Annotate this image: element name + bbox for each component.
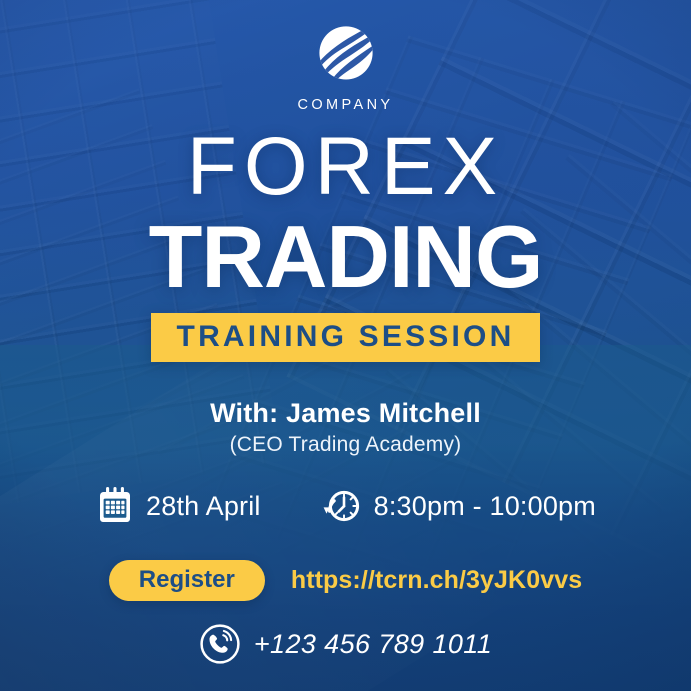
speaker-name: With: James Mitchell [0,398,691,429]
speaker-block: With: James Mitchell (CEO Trading Academ… [0,398,691,457]
contact-phone-text: +123 456 789 1011 [254,629,492,660]
forex-training-poster: COMPANY FOREX TRADING TRAINING SESSION W… [0,0,691,691]
poster-content: COMPANY FOREX TRADING TRAINING SESSION W… [0,0,691,691]
register-row: Register https://tcrn.ch/3yJK0vvs [0,560,691,601]
contact-row: +123 456 789 1011 [0,623,691,665]
banner-row: TRAINING SESSION [0,313,691,362]
headline-line-forex: FOREX [0,128,691,207]
company-swoosh-globe-logo-icon [308,18,384,94]
headline-line-trading: TRADING [0,213,691,301]
brand-logo: COMPANY [0,18,691,113]
event-date: 28th April [95,486,261,526]
event-time-text: 8:30pm - 10:00pm [374,491,596,522]
event-details-row: 28th April [0,486,691,526]
training-session-banner: TRAINING SESSION [151,313,541,362]
calendar-icon [95,486,135,526]
register-button[interactable]: Register [109,560,265,601]
event-time: 8:30pm - 10:00pm [319,486,596,526]
register-url[interactable]: https://tcrn.ch/3yJK0vvs [291,566,582,595]
brand-name: COMPANY [297,97,393,113]
clock-icon [319,486,363,526]
event-date-text: 28th April [146,491,261,522]
headline-block: FOREX TRADING [0,128,691,301]
phone-ring-icon [199,623,241,665]
speaker-role: (CEO Trading Academy) [0,433,691,457]
